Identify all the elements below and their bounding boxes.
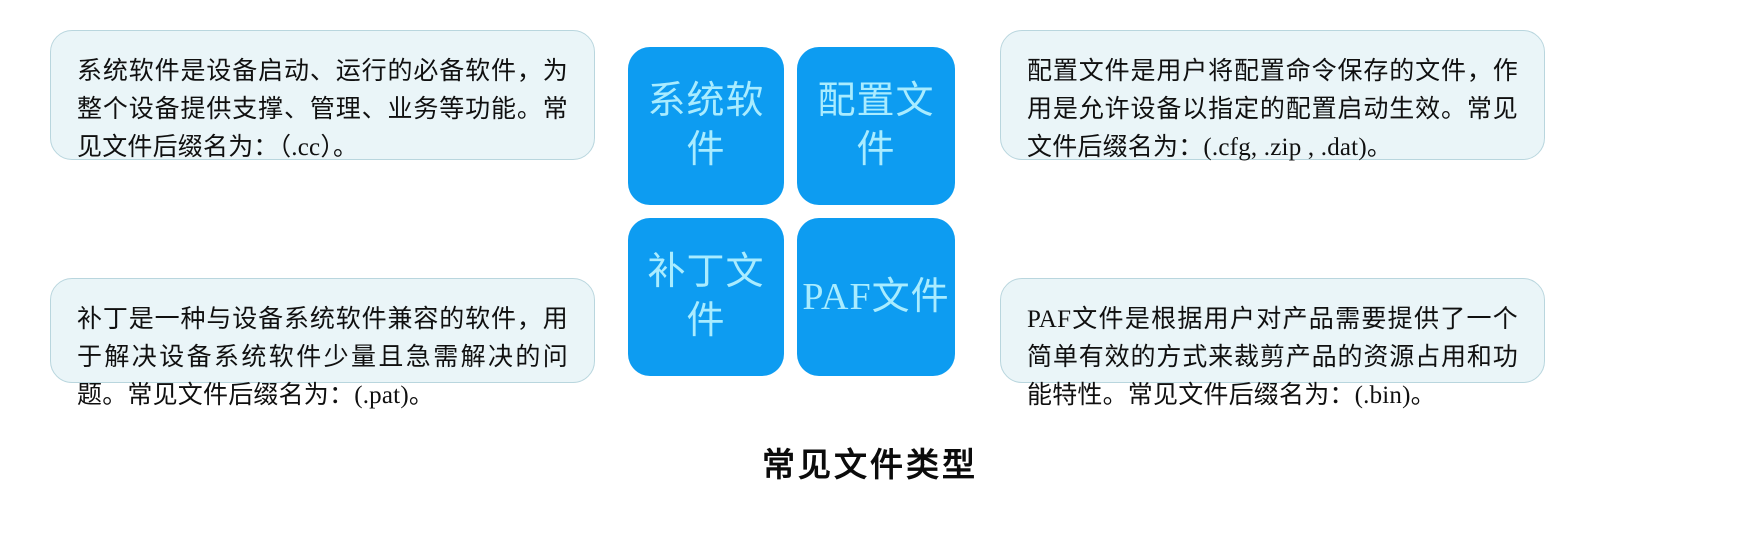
callout-patch-file-text: 补丁是一种与设备系统软件兼容的软件，用于解决设备系统软件少量且急需解决的问题。常…: [77, 301, 568, 415]
callout-paf-file: PAF文件是根据用户对产品需要提供了一个简单有效的方式来裁剪产品的资源占用和功能…: [1000, 278, 1545, 383]
node-config-file-label: 配置文件: [797, 77, 955, 174]
node-system-software-label: 系统软件: [628, 77, 784, 174]
callout-config-file: 配置文件是用户将配置命令保存的文件，作用是允许设备以指定的配置启动生效。常见文件…: [1000, 30, 1545, 160]
node-paf-file[interactable]: PAF文件: [797, 218, 955, 376]
node-patch-file[interactable]: 补丁文件: [628, 218, 784, 376]
node-system-software[interactable]: 系统软件: [628, 47, 784, 205]
node-paf-file-label: PAF文件: [797, 273, 955, 322]
callout-config-file-text: 配置文件是用户将配置命令保存的文件，作用是允许设备以指定的配置启动生效。常见文件…: [1027, 53, 1518, 167]
node-config-file[interactable]: 配置文件: [797, 47, 955, 205]
diagram-title: 常见文件类型: [0, 438, 1740, 486]
callout-paf-file-text: PAF文件是根据用户对产品需要提供了一个简单有效的方式来裁剪产品的资源占用和功能…: [1027, 301, 1518, 415]
diagram-canvas: 系统软件是设备启动、运行的必备软件，为整个设备提供支撑、管理、业务等功能。常见文…: [0, 0, 1740, 534]
callout-system-software: 系统软件是设备启动、运行的必备软件，为整个设备提供支撑、管理、业务等功能。常见文…: [50, 30, 595, 160]
callout-patch-file: 补丁是一种与设备系统软件兼容的软件，用于解决设备系统软件少量且急需解决的问题。常…: [50, 278, 595, 383]
callout-system-software-text: 系统软件是设备启动、运行的必备软件，为整个设备提供支撑、管理、业务等功能。常见文…: [77, 53, 568, 167]
node-patch-file-label: 补丁文件: [628, 248, 784, 345]
